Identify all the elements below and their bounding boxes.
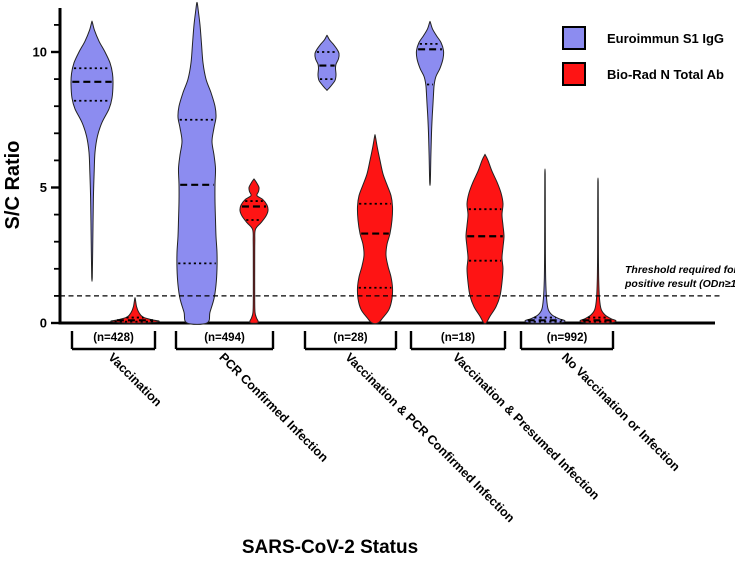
legend: Euroimmun S1 IgGBio-Rad N Total Ab [563, 27, 724, 85]
violin-series-group [71, 2, 616, 324]
category-axis-label: Vaccination & PCR Confirmed Infection [342, 350, 517, 525]
violin-biorad-1 [111, 298, 159, 324]
category-n-label: (n=28) [333, 332, 367, 344]
violin-euroimmun-5 [525, 169, 565, 323]
category-n-label: (n=992) [547, 332, 588, 344]
category-axis-label: PCR Confirmed Infection [216, 350, 330, 464]
category-axis-label: No Vaccination or Infection [559, 350, 683, 474]
y-axis-label: S/C Ratio [2, 141, 24, 230]
legend-label-euroimmun: Euroimmun S1 IgG [607, 31, 724, 46]
legend-label-biorad: Bio-Rad N Total Ab [607, 67, 724, 82]
violin-euroimmun-2 [177, 2, 217, 324]
legend-swatch-biorad[interactable] [563, 63, 585, 85]
category-n-label: (n=494) [204, 332, 245, 344]
violin-body [466, 154, 504, 324]
y-tick-label: 0 [40, 316, 47, 331]
threshold-annotation-line1: Threshold required for [625, 264, 735, 276]
category-n-label: (n=428) [93, 332, 134, 344]
violin-euroimmun-4 [416, 21, 443, 185]
violin-body [580, 178, 616, 323]
violin-biorad-2 [240, 179, 268, 323]
violin-body [315, 35, 339, 90]
violin-body [240, 179, 268, 323]
violin-euroimmun-1 [71, 21, 113, 281]
category-brackets: (n=428)(n=494)(n=28)(n=18)(n=992) [72, 331, 613, 349]
threshold-annotation-line2: positive result (ODn≥1.0) [624, 278, 735, 290]
violin-body [525, 169, 565, 323]
violin-biorad-4 [466, 154, 504, 324]
violin-biorad-5 [580, 178, 616, 323]
violin-body [177, 2, 217, 324]
y-tick-label: 10 [33, 45, 47, 60]
y-tick-label: 5 [40, 180, 47, 195]
violin-euroimmun-3 [315, 35, 339, 90]
x-axis-title: SARS-CoV-2 Status [242, 537, 418, 558]
category-labels: VaccinationPCR Confirmed InfectionVaccin… [105, 350, 682, 525]
violin-body [71, 21, 113, 281]
chart-canvas: S/C Ratio SARS-CoV-2 Status 0510 (n=428)… [0, 0, 735, 563]
category-axis-label: Vaccination [105, 350, 164, 409]
legend-swatch-euroimmun[interactable] [563, 27, 585, 49]
violin-plot-figure: S/C Ratio SARS-CoV-2 Status 0510 (n=428)… [0, 0, 735, 563]
violin-body [416, 21, 443, 185]
category-n-label: (n=18) [441, 332, 475, 344]
y-axis-ticks: 0510 [33, 25, 60, 331]
